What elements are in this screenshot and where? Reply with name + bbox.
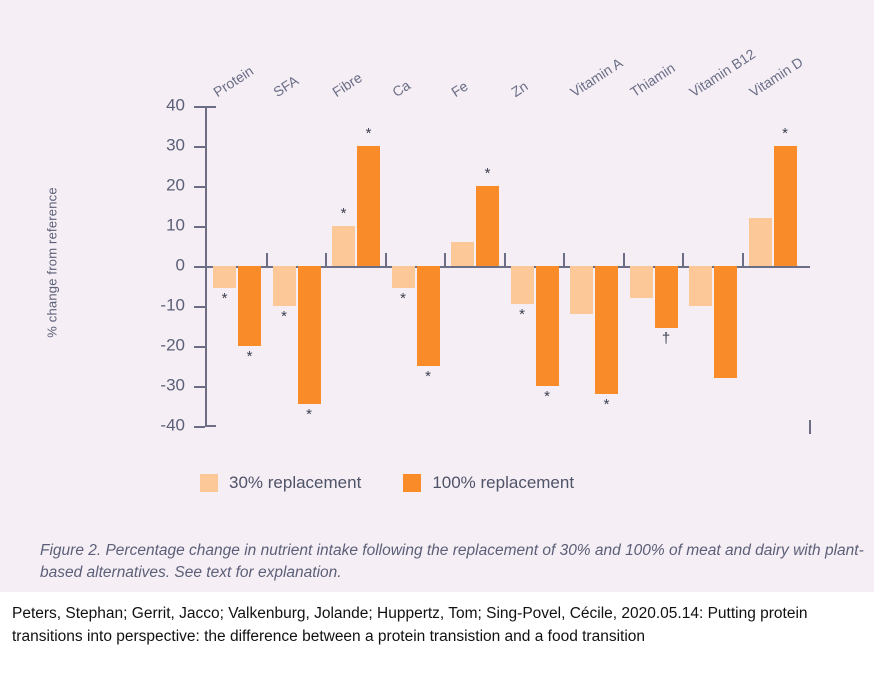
bar-vitamin-b12-100 [714,266,737,378]
legend-swatch-icon-100 [403,474,421,492]
y-tick--30: -30 [194,386,205,388]
y-tick-40: 40 [194,106,205,108]
screenshot-root: % change from reference 403020100-10-20-… [0,0,874,689]
group-tick-fe [444,253,446,266]
plot-area: 403020100-10-20-30-40 ************†* Pro… [205,106,810,427]
bar-vitamin-b12-30 [689,266,712,306]
significance-marker-thiamin-100: † [662,331,670,346]
bar-protein-30 [213,266,236,288]
significance-marker-sfa-100: * [306,407,312,422]
significance-marker-zn-30: * [519,307,525,322]
significance-marker-fe-100: * [485,166,491,181]
group-tick-fibre [325,253,327,266]
significance-marker-zn-100: * [544,389,550,404]
category-label-sfa: SFA [270,72,301,100]
group-tick-vitamin-b12 [682,253,684,266]
bar-fibre-30 [332,226,355,266]
group-tick-vitamin-a [563,253,565,266]
significance-marker-vitamin-d-100: * [782,126,788,141]
bar-protein-100 [238,266,261,346]
category-label-ca: Ca [389,77,413,100]
legend-item-30: 30% replacement [200,473,361,493]
bar-vitamin-d-100 [774,146,797,266]
y-tick-0: 0 [194,266,205,268]
significance-marker-vitamin-a-100: * [604,397,610,412]
bar-ca-30 [392,266,415,288]
y-axis-bottom-cap [205,425,216,427]
category-label-thiamin: Thiamin [627,59,677,100]
y-axis-title: % change from reference [45,163,60,363]
figure-panel: % change from reference 403020100-10-20-… [0,0,874,592]
significance-marker-protein-30: * [222,291,228,306]
bar-thiamin-100 [655,266,678,328]
legend-label-100: 100% replacement [432,473,574,493]
group-tick-sfa [266,253,268,266]
chart-legend: 30% replacement 100% replacement [200,473,574,493]
x-axis-end-cap [809,420,811,434]
y-tick-label--30: -30 [160,376,185,396]
group-tick-vitamin-d [742,253,744,266]
category-label-protein: Protein [210,62,256,100]
y-tick-label-30: 30 [166,136,185,156]
bar-vitamin-a-100 [595,266,618,394]
significance-marker-fibre-30: * [341,206,347,221]
significance-marker-protein-100: * [247,349,253,364]
y-tick-20: 20 [194,186,205,188]
legend-item-100: 100% replacement [403,473,574,493]
bar-zn-100 [536,266,559,386]
y-tick-label-40: 40 [166,96,185,116]
y-tick-label-20: 20 [166,176,185,196]
category-label-vitamin-b12: Vitamin B12 [686,46,758,100]
legend-label-30: 30% replacement [229,473,361,493]
category-label-vitamin-a: Vitamin A [567,55,625,100]
y-tick-label-10: 10 [166,216,185,236]
y-tick--10: -10 [194,306,205,308]
legend-swatch-icon-30 [200,474,218,492]
bar-vitamin-a-30 [570,266,593,314]
category-label-fe: Fe [448,78,470,100]
y-axis-top-cap [205,106,216,108]
group-tick-zn [504,253,506,266]
bar-sfa-100 [298,266,321,404]
y-tick--40: -40 [194,426,205,428]
bar-fibre-100 [357,146,380,266]
y-tick-label--10: -10 [160,296,185,316]
category-label-fibre: Fibre [329,69,364,100]
bar-vitamin-d-30 [749,218,772,266]
bar-thiamin-30 [630,266,653,298]
y-tick-30: 30 [194,146,205,148]
category-label-zn: Zn [508,78,530,100]
citation-text: Peters, Stephan; Gerrit, Jacco; Valkenbu… [0,592,874,689]
y-tick--20: -20 [194,346,205,348]
significance-marker-ca-100: * [425,369,431,384]
y-tick-label--20: -20 [160,336,185,356]
y-tick-10: 10 [194,226,205,228]
bar-sfa-30 [273,266,296,306]
bar-fe-100 [476,186,499,266]
significance-marker-fibre-100: * [366,126,372,141]
group-tick-thiamin [623,253,625,266]
figure-caption: Figure 2. Percentage change in nutrient … [40,540,874,585]
group-tick-ca [385,253,387,266]
bar-ca-100 [417,266,440,366]
y-tick-label--40: -40 [160,416,185,436]
y-tick-label-0: 0 [176,256,185,276]
significance-marker-sfa-30: * [281,309,287,324]
significance-marker-ca-30: * [400,291,406,306]
bar-zn-30 [511,266,534,304]
bar-fe-30 [451,242,474,266]
